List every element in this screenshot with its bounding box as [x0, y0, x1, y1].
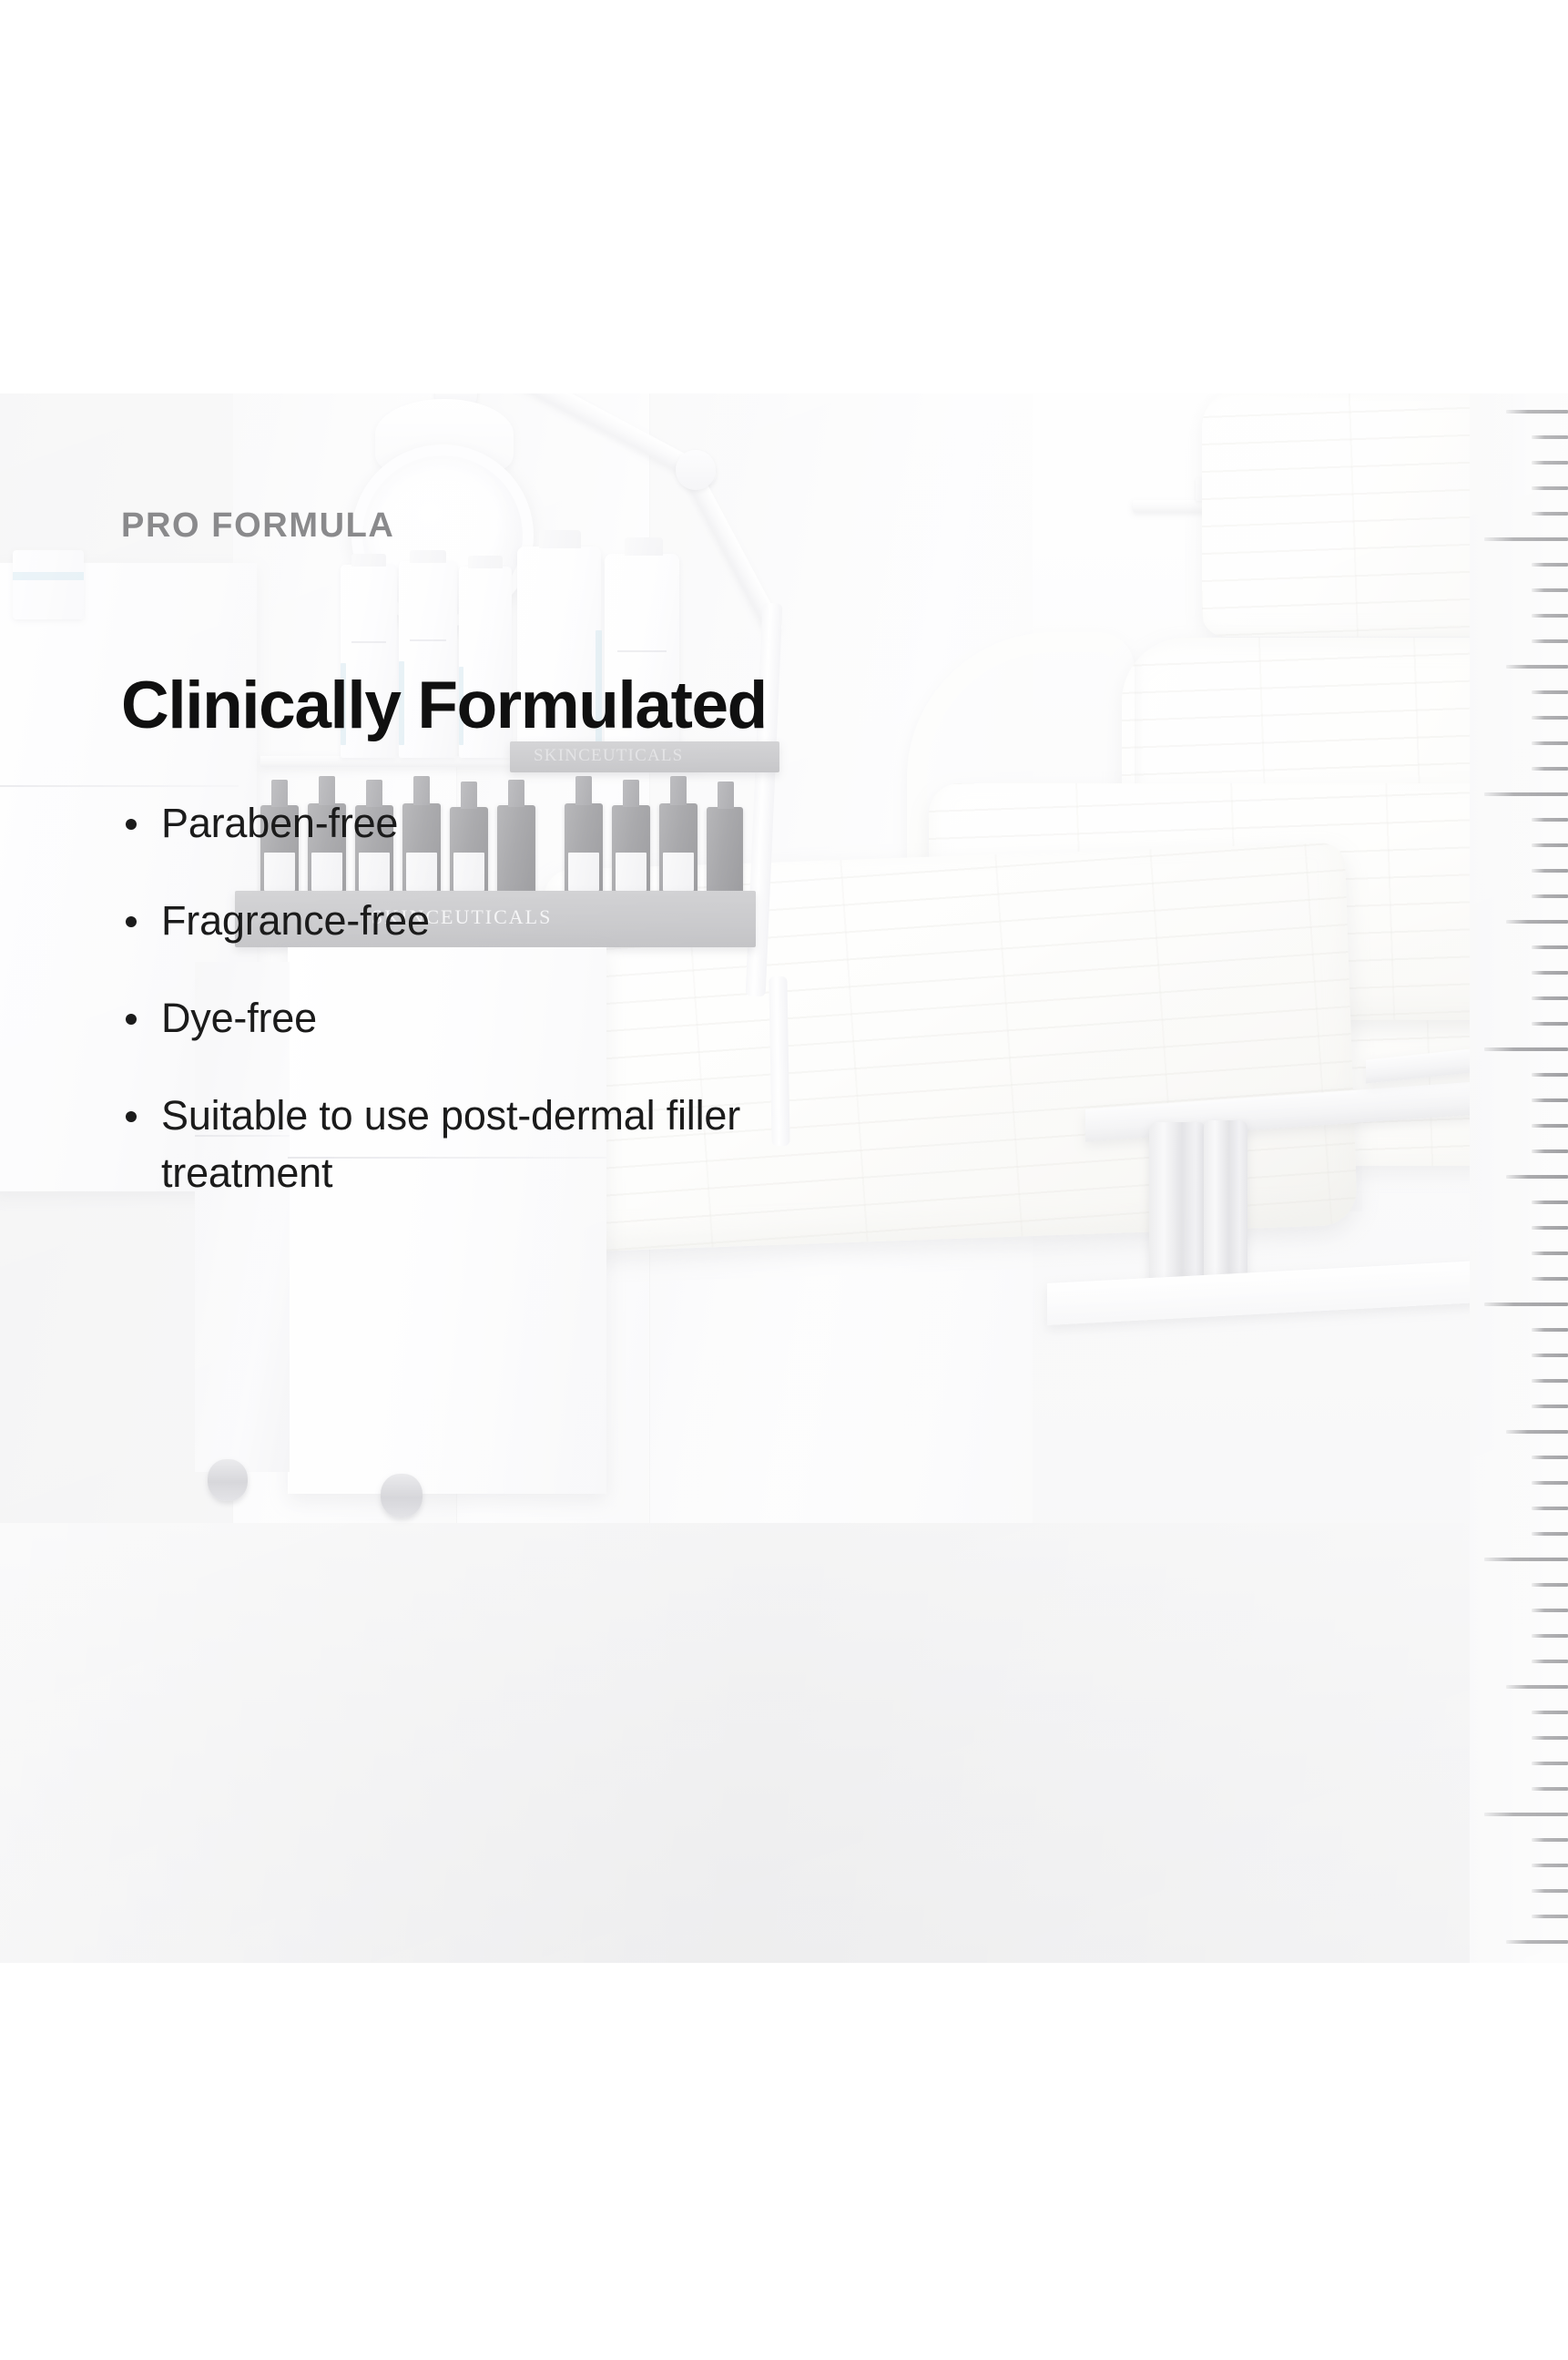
list-item: Suitable to use post-dermal filler treat…: [121, 1087, 868, 1201]
eyebrow-label: PRO FORMULA: [121, 506, 394, 546]
promo-banner: SKINCEUTICALS SKINCEUTICALS: [0, 0, 1568, 2360]
list-item: Dye-free: [121, 989, 868, 1047]
benefits-list: Paraben-free Fragrance-free Dye-free Sui…: [121, 794, 868, 1201]
list-item: Paraben-free: [121, 794, 868, 852]
list-item: Fragrance-free: [121, 892, 868, 949]
text-overlay: PRO FORMULA Clinically Formulated Parabe…: [0, 0, 1568, 2360]
page-title: Clinically Formulated: [121, 668, 767, 743]
